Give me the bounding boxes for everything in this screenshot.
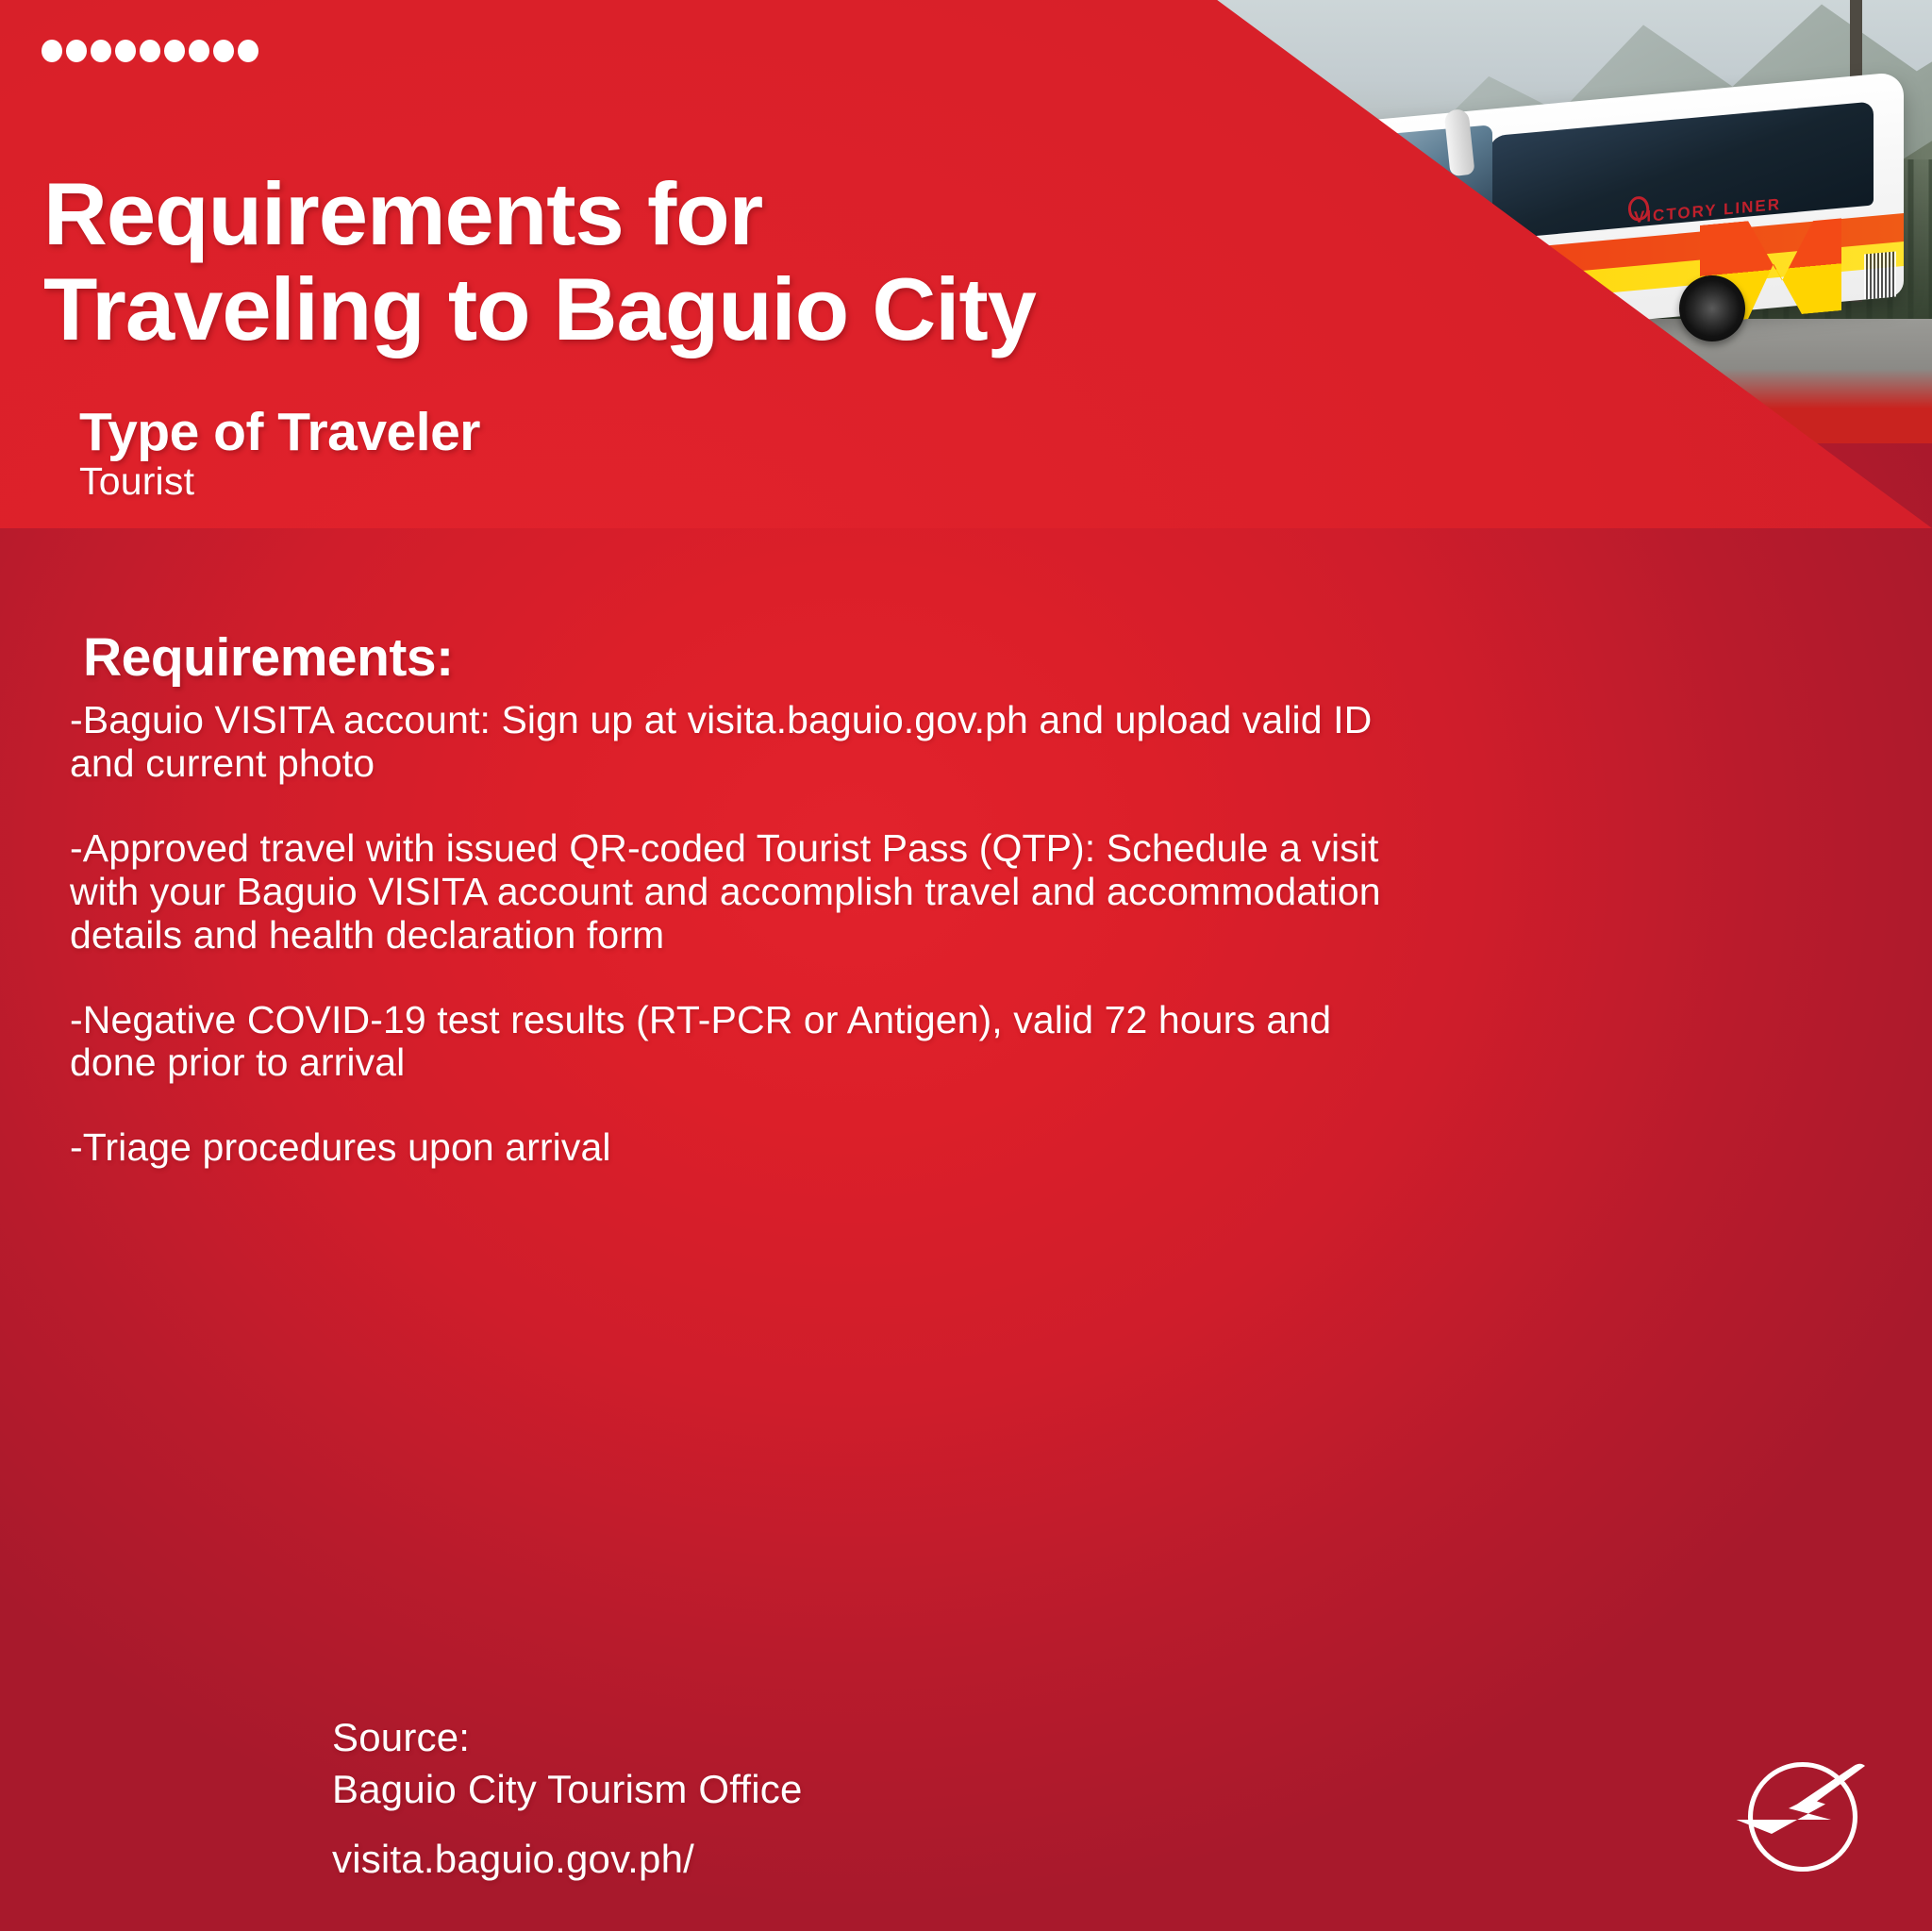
dot-icon bbox=[140, 40, 160, 62]
requirement-item: -Approved travel with issued QR-coded To… bbox=[70, 827, 1409, 957]
traveler-section-heading: Type of Traveler bbox=[79, 401, 480, 463]
requirement-item: -Triage procedures upon arrival bbox=[70, 1126, 1409, 1170]
requirement-item: -Baguio VISITA account: Sign up at visit… bbox=[70, 699, 1409, 786]
source-block: Source: Baguio City Tourism Office visit… bbox=[332, 1712, 803, 1886]
source-organization: Baguio City Tourism Office bbox=[332, 1764, 803, 1816]
source-url[interactable]: visita.baguio.gov.ph/ bbox=[332, 1834, 803, 1886]
dot-icon bbox=[42, 40, 62, 62]
requirement-item: -Negative COVID-19 test results (RT-PCR … bbox=[70, 999, 1409, 1086]
decorative-dot-row bbox=[42, 40, 258, 62]
victory-liner-circle-logo-icon bbox=[1732, 1746, 1874, 1888]
poster-content: Requirements for Traveling to Baguio Cit… bbox=[0, 0, 1932, 1931]
traveler-type-value: Tourist bbox=[79, 459, 194, 504]
dot-icon bbox=[91, 40, 111, 62]
page-title: Requirements for Traveling to Baguio Cit… bbox=[43, 166, 1157, 358]
dot-icon bbox=[66, 40, 87, 62]
dot-icon bbox=[238, 40, 258, 62]
dot-icon bbox=[115, 40, 136, 62]
dot-icon bbox=[189, 40, 209, 62]
requirements-list: -Baguio VISITA account: Sign up at visit… bbox=[70, 660, 1409, 1211]
dot-icon bbox=[213, 40, 234, 62]
dot-icon bbox=[164, 40, 185, 62]
source-label: Source: bbox=[332, 1712, 803, 1764]
poster-root: VICTORY LINER Requirements for Traveling… bbox=[0, 0, 1932, 1931]
